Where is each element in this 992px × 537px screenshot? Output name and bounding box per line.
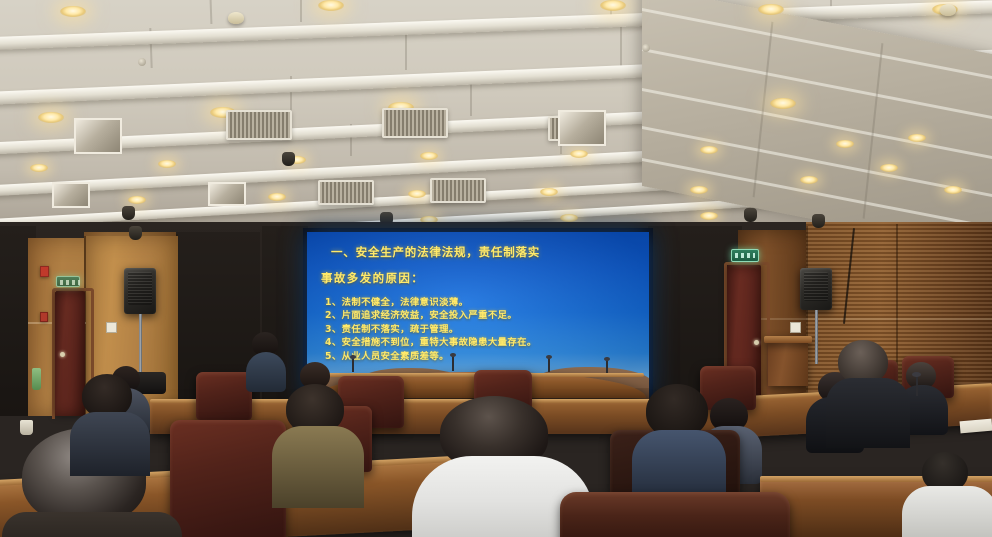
pa-speaker-right — [800, 268, 832, 310]
ceiling-spotlight — [282, 152, 295, 166]
downlight-icon — [758, 4, 784, 15]
speaker-grille-icon — [128, 272, 152, 305]
slide-bullet: 4、安全措施不到位，重特大事故隐患大量存在。 — [325, 336, 645, 349]
wall-outlet — [106, 322, 117, 333]
hvac-grille — [318, 180, 374, 205]
downlight-icon — [944, 186, 962, 194]
water-bottle — [32, 368, 41, 390]
desk-microphone — [916, 376, 918, 396]
downlight-icon — [700, 212, 718, 220]
downlight-icon — [908, 134, 926, 142]
slide-bullet-list: 1、法制不健全，法律意识淡薄。 2、片面追求经济效益，安全投入严重不足。 3、责… — [325, 296, 645, 363]
downlight-icon — [600, 0, 626, 11]
slide-bullet: 3、责任制不落实，疏于管理。 — [325, 323, 645, 336]
slide-subtitle: 事故多发的原因： — [321, 270, 424, 286]
chair-foreground-center — [560, 492, 790, 537]
downlight-icon — [690, 186, 708, 194]
downlight-icon — [38, 112, 64, 123]
desk-microphone — [452, 356, 454, 371]
downlight-icon — [880, 164, 898, 172]
downlight-icon — [268, 193, 286, 201]
wall-spotlight-left — [129, 226, 142, 240]
smoke-detector-icon — [940, 4, 956, 16]
downlight-icon — [128, 196, 146, 204]
downlight-icon — [570, 150, 588, 158]
downlight-icon — [420, 152, 438, 160]
hvac-grille — [430, 178, 486, 203]
exit-sign-right — [731, 249, 759, 262]
downlight-icon — [30, 164, 48, 172]
downlight-icon — [318, 0, 344, 11]
chair — [196, 372, 252, 420]
downlight-icon — [560, 214, 578, 222]
lectern — [768, 340, 808, 386]
conference-room-photo: 一、安全生产的法律法规，责任制落实 事故多发的原因： 1、法制不健全，法律意识淡… — [0, 0, 992, 537]
air-diffuser — [74, 118, 122, 154]
downlight-icon — [770, 98, 796, 109]
downlight-icon — [60, 6, 86, 17]
sprinkler-icon — [138, 58, 146, 66]
pa-speaker-left — [124, 268, 156, 314]
air-diffuser — [208, 182, 246, 206]
downlight-icon — [836, 140, 854, 148]
downlight-icon — [158, 160, 176, 168]
wall-spotlight-right — [812, 214, 825, 228]
slide-bullet: 2、片面追求经济效益，安全投入严重不足。 — [325, 309, 645, 322]
sprinkler-icon — [642, 44, 650, 52]
lectern-top — [764, 336, 812, 343]
hvac-grille — [226, 110, 292, 140]
desk-microphone — [548, 358, 550, 372]
document-papers — [960, 419, 992, 434]
speaker-grille-icon — [804, 272, 828, 301]
smoke-detector-icon — [228, 12, 244, 24]
fire-extinguisher-sign — [40, 266, 49, 277]
exit-sign-left — [56, 276, 80, 287]
ceiling-angled-wing — [642, 0, 992, 236]
air-diffuser — [558, 110, 606, 146]
ceiling — [0, 0, 992, 236]
slide-title: 一、安全生产的法律法规，责任制落实 — [331, 244, 643, 260]
downlight-icon — [800, 176, 818, 184]
speaker-stand-right — [815, 310, 818, 364]
downlight-icon — [408, 190, 426, 198]
wall-outlet-right — [790, 322, 801, 333]
ceiling-spotlight — [744, 208, 757, 222]
air-diffuser — [52, 182, 90, 208]
downlight-icon — [700, 146, 718, 154]
slide-bullet: 1、法制不健全，法律意识淡薄。 — [325, 296, 645, 309]
fire-equipment-sign — [40, 312, 48, 322]
chair-foreground — [170, 420, 286, 537]
speaker-stand-left — [139, 314, 142, 376]
desk-microphone — [606, 360, 608, 373]
paper-cup — [20, 420, 33, 435]
hvac-grille — [382, 108, 448, 138]
ceiling-spotlight — [122, 206, 135, 220]
desk-microphone — [352, 358, 354, 372]
downlight-icon — [540, 188, 558, 196]
